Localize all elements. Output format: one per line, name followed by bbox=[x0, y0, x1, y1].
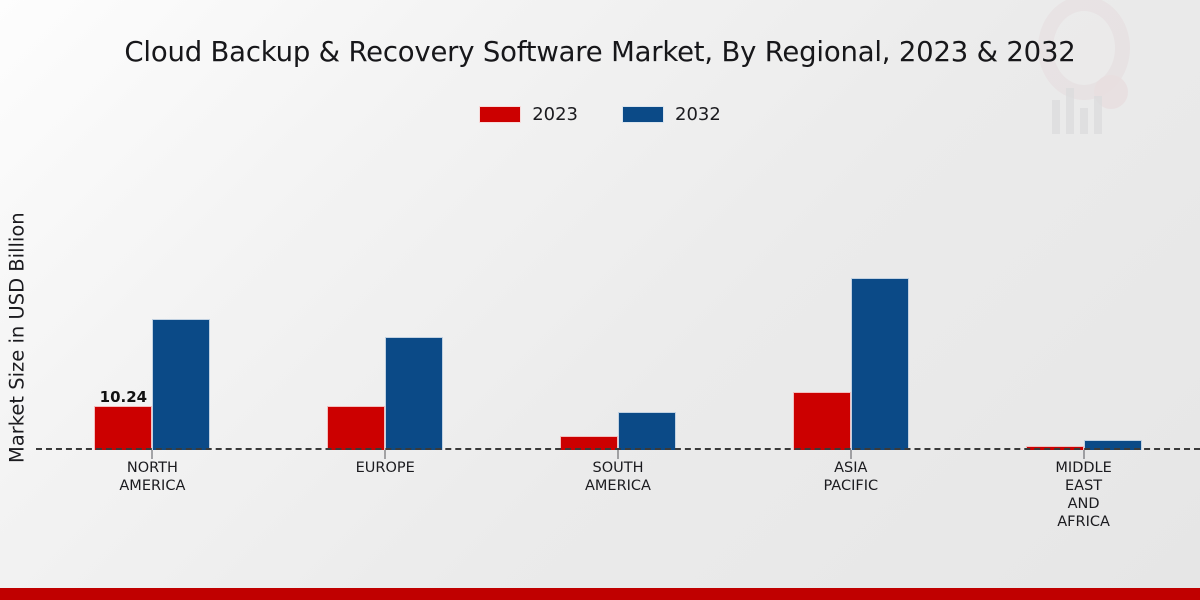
bars bbox=[1026, 150, 1142, 450]
x-tick-north-america bbox=[152, 450, 153, 459]
x-axis-labels: NORTH AMERICA EUROPE SOUTH AMERICA ASIA … bbox=[36, 459, 1200, 531]
bars: 10.24 bbox=[94, 150, 210, 450]
bar-2023-asia-pacific[interactable] bbox=[793, 392, 851, 450]
bar-2023-europe[interactable] bbox=[327, 406, 385, 450]
bars bbox=[327, 150, 443, 450]
x-tick-south-america bbox=[617, 450, 618, 459]
legend-label-2023: 2023 bbox=[532, 104, 578, 125]
x-axis-label-south-america: SOUTH AMERICA bbox=[502, 459, 735, 531]
bar-group-europe bbox=[269, 150, 502, 450]
x-axis-label-line: PACIFIC bbox=[734, 477, 967, 495]
bars bbox=[793, 150, 909, 450]
x-tick-europe bbox=[385, 450, 386, 459]
legend-swatch-2023 bbox=[479, 106, 521, 123]
x-axis-label-line: SOUTH bbox=[502, 459, 735, 477]
x-tick-asia-pacific bbox=[850, 450, 851, 459]
bar-2023-north-america[interactable]: 10.24 bbox=[94, 406, 152, 450]
bar-2032-north-america[interactable] bbox=[152, 319, 210, 450]
bar-group-middle-east-and-africa bbox=[967, 150, 1200, 450]
bars bbox=[560, 150, 676, 450]
footer-accent-bar bbox=[0, 588, 1200, 600]
x-axis-label-asia-pacific: ASIA PACIFIC bbox=[734, 459, 967, 531]
x-axis-label-north-america: NORTH AMERICA bbox=[36, 459, 269, 531]
bar-value-label-2023-north-america: 10.24 bbox=[95, 388, 151, 406]
bar-groups: 10.24 bbox=[36, 150, 1200, 450]
x-axis-label-line: EUROPE bbox=[269, 459, 502, 477]
x-axis-label-line: NORTH bbox=[36, 459, 269, 477]
x-axis-label-europe: EUROPE bbox=[269, 459, 502, 531]
bar-group-north-america: 10.24 bbox=[36, 150, 269, 450]
bar-group-asia-pacific bbox=[734, 150, 967, 450]
x-axis-baseline bbox=[36, 448, 1200, 450]
x-axis-label-line: EAST bbox=[967, 477, 1200, 495]
bar-2032-south-america[interactable] bbox=[618, 412, 676, 450]
y-axis-title: Market Size in USD Billion bbox=[2, 168, 32, 508]
legend-item-2023[interactable]: 2023 bbox=[479, 104, 578, 125]
legend-item-2032[interactable]: 2032 bbox=[622, 104, 721, 125]
legend-label-2032: 2032 bbox=[675, 104, 721, 125]
legend-swatch-2032 bbox=[622, 106, 664, 123]
chart-legend: 2023 2032 bbox=[0, 104, 1200, 125]
x-axis-label-line: MIDDLE bbox=[967, 459, 1200, 477]
x-axis-label-line: AMERICA bbox=[36, 477, 269, 495]
bar-2032-europe[interactable] bbox=[385, 337, 443, 450]
chart-page: Cloud Backup & Recovery Software Market,… bbox=[0, 0, 1200, 600]
x-axis-label-line: ASIA bbox=[734, 459, 967, 477]
x-axis-label-line: AMERICA bbox=[502, 477, 735, 495]
watermark-logo bbox=[1012, 0, 1152, 157]
x-axis-label-line: AND bbox=[967, 495, 1200, 513]
bar-2032-asia-pacific[interactable] bbox=[851, 278, 909, 450]
x-axis-label-middle-east-and-africa: MIDDLE EAST AND AFRICA bbox=[967, 459, 1200, 531]
x-axis-label-line: AFRICA bbox=[967, 513, 1200, 531]
chart-title: Cloud Backup & Recovery Software Market,… bbox=[0, 36, 1200, 68]
x-tick-middle-east-and-africa bbox=[1083, 450, 1084, 459]
bar-group-south-america bbox=[502, 150, 735, 450]
plot-area: 10.24 bbox=[36, 150, 1200, 450]
